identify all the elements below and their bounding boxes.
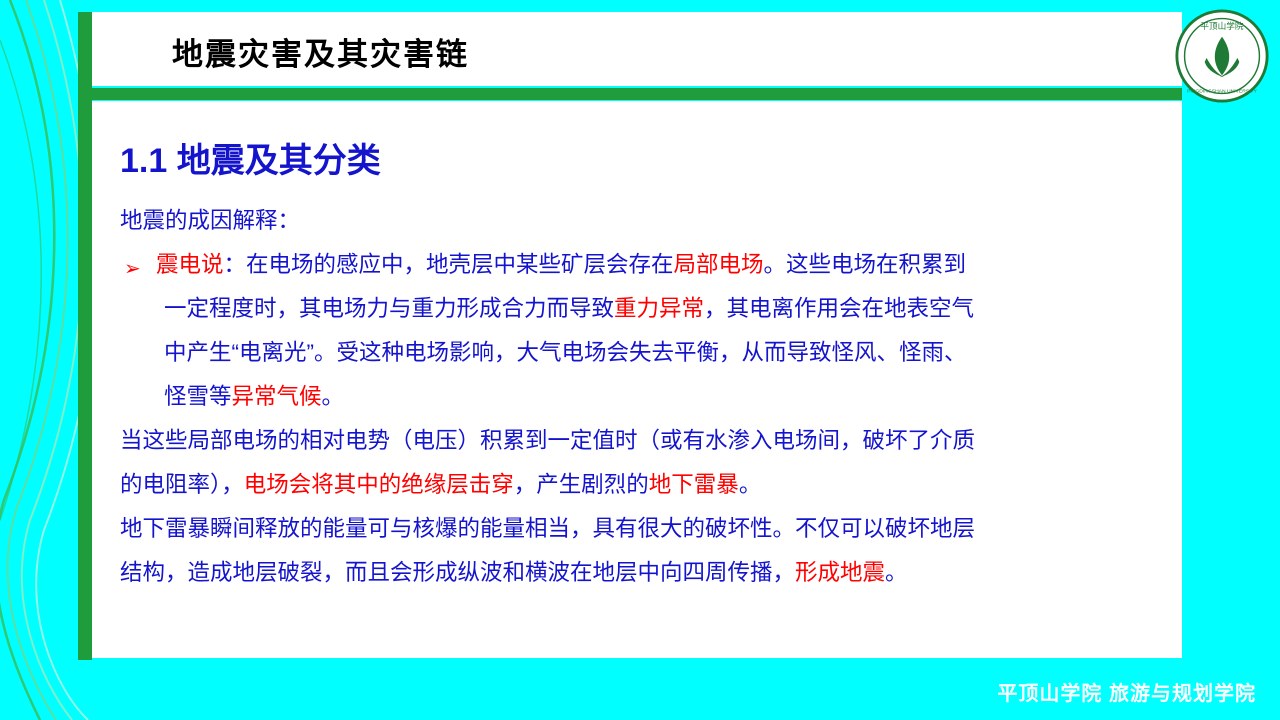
para3-line-2-b: 。 [885,560,908,585]
para3-line-2-a: 结构，造成地层破裂，而且会形成纵波和横波在地层中向四周传播， [120,560,795,585]
bullet-line-1-highlight: 局部电场 [674,252,764,277]
para3-line-1: 地下雷暴瞬间释放的能量可与核爆的能量相当，具有很大的破坏性。不仅可以破坏地层 [120,507,1160,551]
para2-line-2-a: 的电阻率）， [120,472,244,497]
title-panel: 地震灾害及其灾害链 [92,12,1182,86]
university-logo-icon: 平顶山学院 PINGDINGSHAN UNIVERSITY [1174,8,1270,104]
para2-line-2: 的电阻率），电场会将其中的绝缘层击穿，产生剧烈的地下雷暴。 [120,463,1160,507]
bullet-line-4-b: 。 [322,384,345,409]
footer-text: 平顶山学院 旅游与规划学院 [997,677,1256,706]
page-title: 地震灾害及其灾害链 [172,29,469,74]
slide-body: 地震的成因解释： ➢ 震电说：在电场的感应中，地壳层中某些矿层会存在局部电场。这… [120,199,1160,595]
slide: 地震灾害及其灾害链 1.1 地震及其分类 地震的成因解释： ➢ 震电说：在电场的… [0,0,1280,720]
para2-line-2-b: ，产生剧烈的 [514,472,649,497]
section-heading: 1.1 地震及其分类 [120,133,381,182]
left-accent-bar [78,12,92,660]
svg-text:平顶山学院: 平顶山学院 [1200,20,1244,31]
bullet-line-1-a: ：在电场的感应中，地壳层中某些矿层会存在 [224,252,674,277]
para3-highlight: 形成地震 [795,560,885,585]
bullet-line-4: 怪雪等异常气候。 [120,375,1160,419]
bullet-line-2-b: ，其电离作用会在地表空气 [704,296,974,321]
bullet-line-2-highlight: 重力异常 [614,296,704,321]
bullet-line-2: 一定程度时，其电场力与重力形成合力而导致重力异常，其电离作用会在地表空气 [120,287,1160,331]
bullet-line-4-highlight: 异常气候 [232,384,322,409]
bullet-line-2-a: 一定程度时，其电场力与重力形成合力而导致 [164,296,614,321]
bullet-line-3: 中产生“电离光”。受这种电场影响，大气电场会失去平衡，从而导致怪风、怪雨、 [120,331,1160,375]
svg-text:PINGDINGSHAN UNIVERSITY: PINGDINGSHAN UNIVERSITY [1187,88,1257,94]
bullet-line-1-b: 。这些电场在积累到 [764,252,967,277]
para2-line-1: 当这些局部电场的相对电势（电压）积累到一定值时（或有水渗入电场间，破坏了介质 [120,419,1160,463]
title-divider-outer [92,88,1182,100]
bullet-line-1: 震电说：在电场的感应中，地壳层中某些矿层会存在局部电场。这些电场在积累到 [156,243,1160,287]
bullet-term: 震电说 [156,252,224,277]
arrow-bullet-icon: ➢ [124,247,141,291]
bullet-line-4-a: 怪雪等 [164,384,232,409]
intro-line: 地震的成因解释： [120,199,1160,243]
bullet-item-dianshuo: ➢ 震电说：在电场的感应中，地壳层中某些矿层会存在局部电场。这些电场在积累到 [120,243,1160,287]
para2-highlight-1: 电场会将其中的绝缘层击穿 [244,472,514,497]
content-panel: 1.1 地震及其分类 地震的成因解释： ➢ 震电说：在电场的感应中，地壳层中某些… [92,101,1182,658]
para3-line-2: 结构，造成地层破裂，而且会形成纵波和横波在地层中向四周传播，形成地震。 [120,551,1160,595]
para2-highlight-2: 地下雷暴 [649,472,739,497]
para2-line-2-c: 。 [739,472,762,497]
